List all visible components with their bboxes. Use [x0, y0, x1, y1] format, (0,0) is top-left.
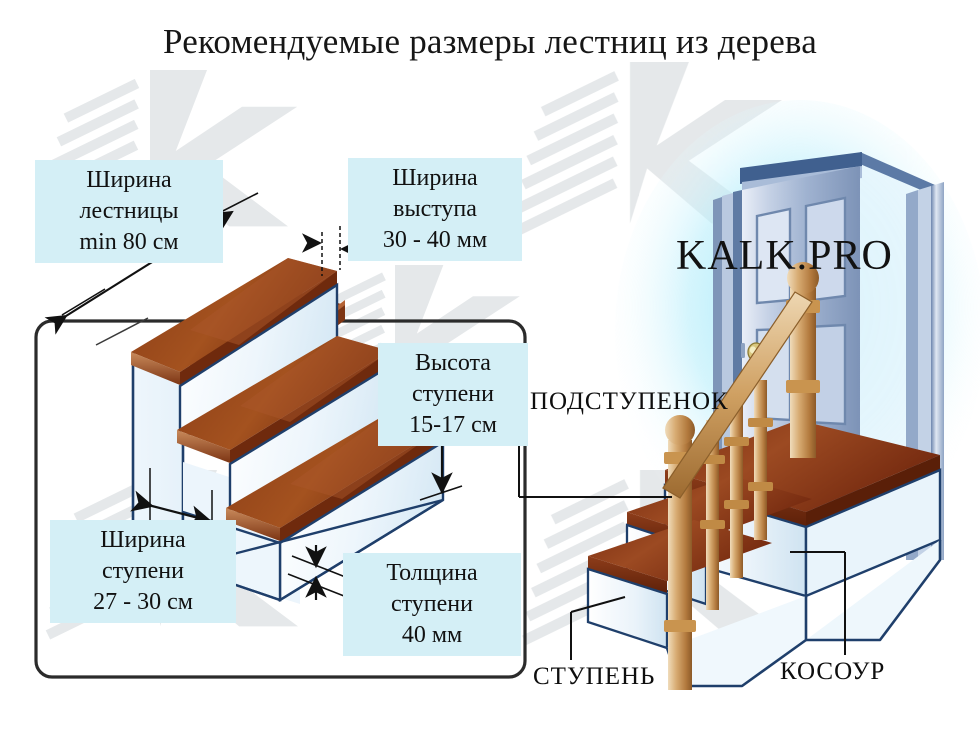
callout-stair-width: Ширина лестницы min 80 см [35, 160, 223, 263]
callout-stair-width-line-2: лестницы [44, 196, 214, 227]
callout-nosing-width: Ширина выступа 30 - 40 мм [348, 158, 522, 261]
callout-step-height: Высота ступени 15-17 см [378, 343, 528, 446]
callout-tread-thickness: Толщина ступени 40 мм [343, 553, 521, 656]
part-label-stringer: КОСОУР [780, 658, 885, 686]
callout-tread-thickness-line-1: Толщина [352, 558, 512, 589]
callout-step-width-line-3: 27 - 30 см [59, 587, 227, 618]
callout-stair-width-line-3: min 80 см [44, 227, 214, 258]
callout-step-width-line-1: Ширина [59, 525, 227, 556]
callout-tread-thickness-line-2: ступени [352, 589, 512, 620]
callout-step-width: Ширина ступени 27 - 30 см [50, 520, 236, 623]
diagram-canvas: Рекомендуемые размеры лестниц из дерева … [0, 0, 980, 735]
page-title: Рекомендуемые размеры лестниц из дерева [0, 22, 980, 62]
callout-step-height-line-3: 15-17 см [387, 410, 519, 441]
brand-logo: KALK.PRO [676, 232, 893, 280]
part-label-riser: ПОДСТУПЕНОК [530, 388, 729, 416]
callout-step-width-line-2: ступени [59, 556, 227, 587]
callout-nosing-width-line-3: 30 - 40 мм [357, 225, 513, 256]
callout-step-height-line-1: Высота [387, 348, 519, 379]
callout-step-height-line-2: ступени [387, 379, 519, 410]
callout-stair-width-line-1: Ширина [44, 165, 214, 196]
callout-nosing-width-line-1: Ширина [357, 163, 513, 194]
callout-tread-thickness-line-3: 40 мм [352, 620, 512, 651]
callout-nosing-width-line-2: выступа [357, 194, 513, 225]
part-label-step: СТУПЕНЬ [533, 663, 655, 691]
